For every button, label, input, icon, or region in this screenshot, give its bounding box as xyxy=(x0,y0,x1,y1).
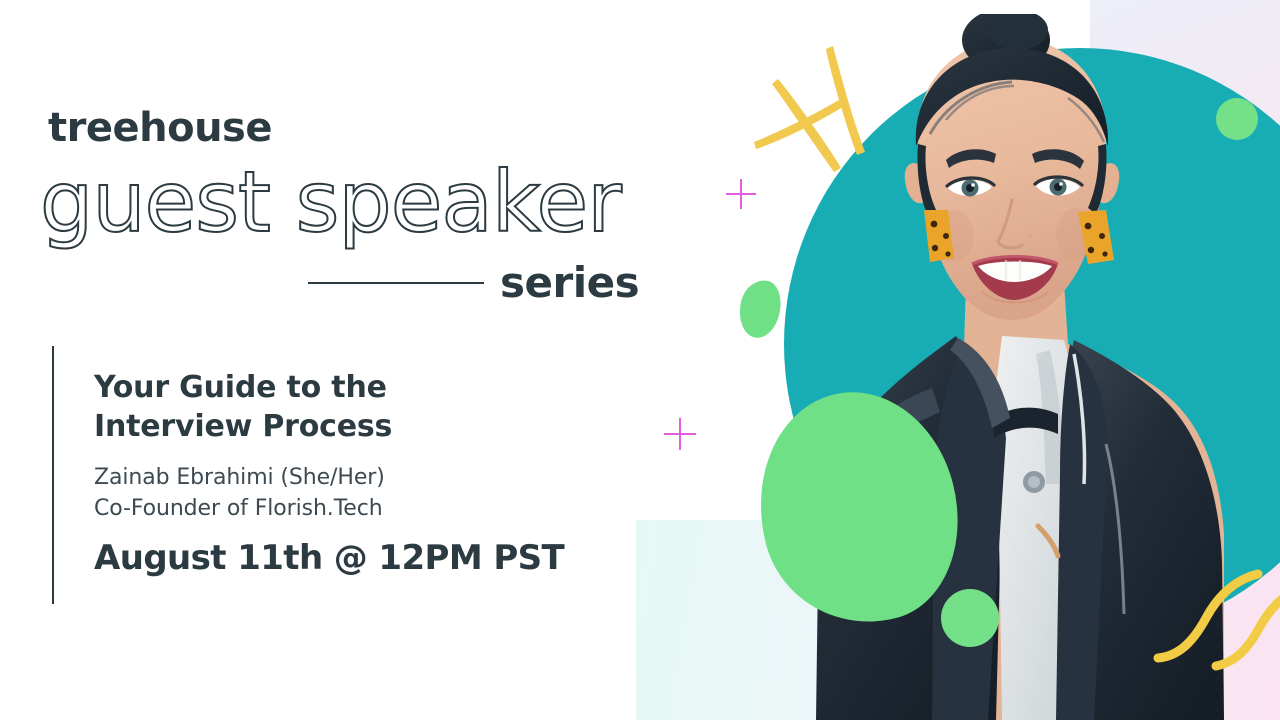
plus-vertical-bar xyxy=(740,179,742,209)
green-dot-bottom-shape xyxy=(941,589,999,647)
series-label: series xyxy=(500,262,639,304)
event-datetime: August 11th @ 12PM PST xyxy=(94,540,634,577)
green-blob-small-shape xyxy=(734,276,785,341)
plus-mark-icon-middle xyxy=(664,418,696,450)
session-title: Your Guide to the Interview Process xyxy=(94,368,634,446)
brand-wordmark: treehouse xyxy=(48,108,272,148)
wavy-lines-icon xyxy=(1150,560,1280,720)
session-title-line-1: Your Guide to the xyxy=(94,370,387,405)
headline-outline-text: guest speaker xyxy=(40,160,621,244)
plus-mark-icon-top xyxy=(726,179,756,209)
poster-text-column: treehouse guest speaker series Your Guid… xyxy=(0,0,660,720)
session-details-vertical-rule xyxy=(52,346,54,604)
speaker-role: Co-Founder of Florish.Tech xyxy=(94,493,634,524)
series-divider-rule xyxy=(308,282,484,284)
session-title-line-2: Interview Process xyxy=(94,409,392,444)
session-details-block: Your Guide to the Interview Process Zain… xyxy=(52,346,652,604)
poster-canvas: treehouse guest speaker series Your Guid… xyxy=(0,0,1280,720)
plus-vertical-bar xyxy=(679,418,681,450)
series-row: series xyxy=(308,255,628,311)
speaker-name: Zainab Ebrahimi (She/Her) xyxy=(94,462,634,493)
